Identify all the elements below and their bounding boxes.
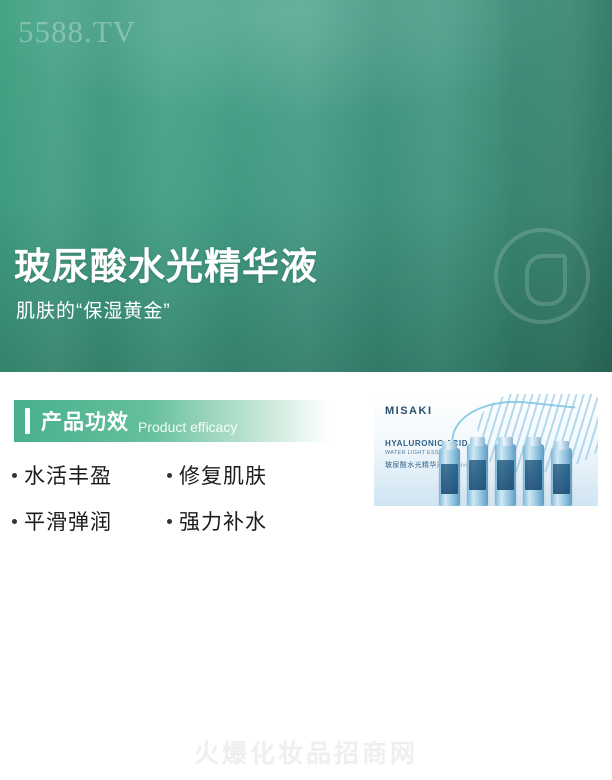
page-subtitle: 肌肤的“保湿黄金” (16, 296, 171, 323)
heading-accent-bar (25, 408, 30, 434)
efficacy-item-label: 水活丰盈 (24, 460, 112, 490)
list-item: 水活丰盈 (12, 460, 167, 490)
efficacy-item-label: 修复肌肤 (179, 460, 267, 490)
vial-bottle (439, 448, 460, 506)
efficacy-row: 平滑弹润 强力补水 (12, 506, 352, 536)
product-detail-page: 5588.TV 玻尿酸水光精华液 肌肤的“保湿黄金” 产品功效 Product … (0, 0, 612, 780)
hero-banner: 5588.TV 玻尿酸水光精华液 肌肤的“保湿黄金” (0, 0, 612, 372)
site-watermark-top: 5588.TV (18, 14, 136, 50)
bullet-dot-icon (12, 473, 17, 478)
list-item: 修复肌肤 (167, 460, 267, 490)
bullet-dot-icon (167, 519, 172, 524)
efficacy-heading-cn: 产品功效 (41, 406, 129, 436)
product-brand-label: MISAKI (385, 405, 433, 417)
page-title: 玻尿酸水光精华液 (14, 236, 318, 290)
vial-bottle (523, 444, 544, 506)
list-item: 强力补水 (167, 506, 267, 536)
efficacy-heading: 产品功效 Product efficacy (14, 400, 330, 442)
efficacy-section: 产品功效 Product efficacy 水活丰盈 修复肌肤 平滑弹润 (0, 372, 612, 780)
efficacy-item-label: 强力补水 (179, 506, 267, 536)
product-photo: MISAKI HYALURONIC ACID WATER LIGHT ESSEN… (374, 394, 598, 506)
product-name-cn: 玻尿酸水光精华液 (385, 462, 444, 469)
bullet-dot-icon (12, 519, 17, 524)
efficacy-list: 水活丰盈 修复肌肤 平滑弹润 强力补水 (12, 460, 352, 552)
efficacy-heading-en: Product efficacy (138, 419, 237, 442)
droplet-circle-logo-icon (494, 228, 590, 324)
efficacy-row: 水活丰盈 修复肌肤 (12, 460, 352, 490)
site-watermark-bottom: 火爆化妆品招商网 (0, 734, 612, 770)
vial-bottle (551, 448, 572, 506)
bullet-dot-icon (167, 473, 172, 478)
vial-group (437, 432, 597, 506)
list-item: 平滑弹润 (12, 506, 167, 536)
efficacy-item-label: 平滑弹润 (24, 506, 112, 536)
vial-bottle (467, 444, 488, 506)
vial-bottle (495, 444, 516, 506)
